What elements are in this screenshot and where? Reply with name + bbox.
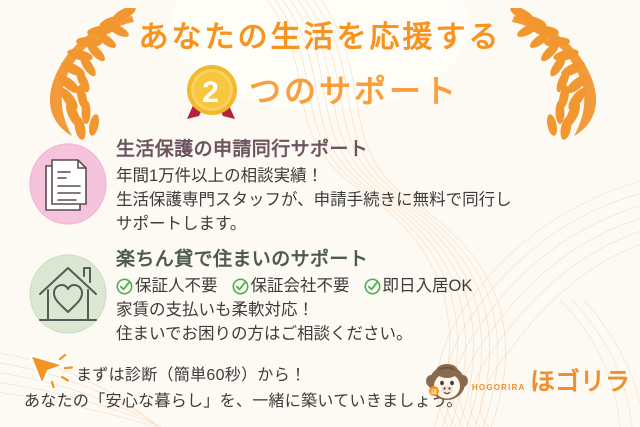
check-label: 即日入居OK [383,275,473,299]
feature-block-housing: 楽ちん貸で住まいのサポート 保証人不要 [26,246,472,347]
feature-line: サポートします。 [116,213,512,237]
gorilla-mascot-icon: ほ [424,357,470,403]
circle-check-icon [364,278,381,295]
check-label: 保証会社不要 [251,275,350,299]
medal-badge-icon: 2 [181,61,243,123]
documents-icon [26,136,110,232]
feature-line: 生活保護専門スタッフが、申請手続きに無料で同行し [116,189,512,213]
click-cursor-icon [24,351,78,389]
brand-jp-name: ほゴリラ [530,368,630,396]
svg-text:ほ: ほ [431,389,437,396]
check-label: 保証人不要 [135,275,218,299]
feature-text-housing: 楽ちん貸で住まいのサポート 保証人不要 [110,246,472,347]
check-list-item: 即日入居OK [364,275,473,299]
brand-text: HOGORIRA ほゴリラ [472,366,630,395]
circle-check-icon [116,278,133,295]
headline-line-2: 2 つのサポート [0,61,640,123]
house-heart-icon [26,246,110,342]
feature-title-welfare: 生活保護の申請同行サポート [116,138,512,162]
check-list-item: 保証人不要 [116,275,218,299]
feature-title-housing: 楽ちん貸で住まいのサポート [116,248,472,272]
check-list-item: 保証会社不要 [232,275,350,299]
feature-line: 家賃の支払いも柔軟対応！ [116,299,472,323]
brand-roman-name: HOGORIRA [472,383,526,392]
promo-banner: あなたの生活を応援する 2 つのサポート [0,0,640,427]
brand-logo[interactable]: ほ HOGORIRA ほゴリラ [424,357,630,403]
feature-block-welfare: 生活保護の申請同行サポート 年間1万件以上の相談実績！ 生活保護専門スタッフが、… [26,136,512,237]
feature-line: 住まいでお困りの方はご相談ください。 [116,323,472,347]
medal-number: 2 [202,76,222,109]
headline-line-1: あなたの生活を応援する [0,22,640,54]
feature-text-welfare: 生活保護の申請同行サポート 年間1万件以上の相談実績！ 生活保護専門スタッフが、… [110,136,512,237]
headline-line-2-text: つのサポート [249,75,459,109]
circle-check-icon [232,278,249,295]
feature-check-list: 保証人不要 保証会社不要 [116,275,472,299]
footer-block: まずは診断（簡単60秒）から！ あなたの「安心な暮らし」を、一緒に築いていきまし… [0,345,640,427]
footer-cta-line-2: あなたの「安心な暮らし」を、一緒に築いていきましょう。 [24,387,463,411]
footer-cta-line-1: まずは診断（簡単60秒）から！ [76,361,306,385]
headline-block: あなたの生活を応援する 2 つのサポート [0,22,640,123]
feature-line: 年間1万件以上の相談実績！ [116,165,512,189]
